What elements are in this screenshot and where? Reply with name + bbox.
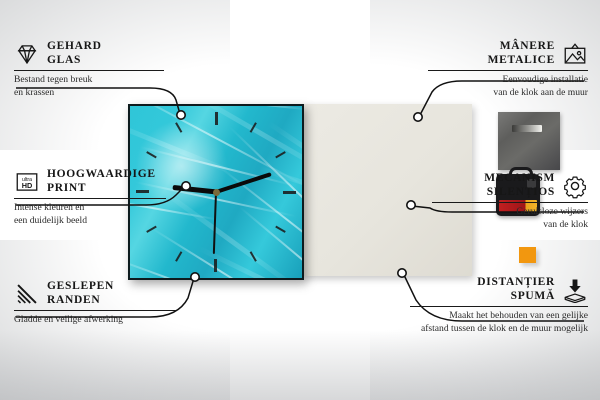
picture-frame-icon [562,41,588,67]
feature-sub-line2: en krassen [14,87,164,100]
anchor-print [182,182,190,190]
svg-text:HD: HD [22,181,33,190]
feature-title-line2: METALICE [488,54,555,68]
feature-sub-line1: Eenvoudige installatie [428,74,588,87]
feature-title-line1: DISTANȚIER [477,276,555,290]
feature-sub-line2: van de klok aan de muur [428,87,588,100]
feature-rule [428,70,588,71]
feature-title-line1: GESLEPEN [47,280,114,294]
gear-icon [562,173,588,199]
feature-rule [14,198,166,199]
spacer-down-arrow-icon [562,277,588,303]
anchor-gehard-glas [177,111,185,119]
feature-rule [14,310,176,311]
feature-title-line1: MECANISM [484,172,555,186]
feature-sub-line1: Geruisloze wijzers [432,206,588,219]
anchor-mecanism [407,201,415,209]
feature-sub-line2: een duidelijk beeld [14,215,166,228]
bevelled-edge-icon [14,281,40,307]
feature-sub-line1: Bestand tegen breuk [14,74,164,87]
feature-sub-line1: Maakt het behouden van een gelijke [410,310,588,323]
feature-sub-line2: van de klok [432,219,588,232]
feature-geslepen-randen: GESLEPEN RANDEN Gladde en veilige afwerk… [14,280,176,327]
feature-sub-line2: afstand tussen de klok en de muur mogeli… [410,323,588,336]
diamond-icon [14,41,40,67]
anchor-metal [414,113,422,121]
anchor-distantier [398,269,406,277]
feature-title-line2: GLAS [47,54,102,68]
feature-title-line1: HOOGWAARDIGE [47,168,156,182]
feature-distantier-spuma: DISTANȚIER SPUMĂ Maakt het behouden van … [410,276,588,335]
feature-rule [410,306,588,307]
feature-hoogwaardige-print: ultra HD HOOGWAARDIGE PRINT Intense kleu… [14,168,166,227]
feature-title-line1: MÂNERE [488,40,555,54]
feature-mecanism-silentios: MECANISM SILENȚIOS Geruisloze wijzers va… [432,172,588,231]
feature-gehard-glas: GEHARD GLAS Bestand tegen breuk en krass… [14,40,164,99]
feature-title-line1: GEHARD [47,40,102,54]
feature-title-line2: PRINT [47,182,156,196]
feature-sub-line1: Intense kleuren en [14,202,166,215]
feature-rule [14,70,164,71]
anchor-randen [191,273,199,281]
feature-title-line2: SILENȚIOS [484,186,555,200]
feature-manere-metalice: MÂNERE METALICE Eenvoudige installatie v… [428,40,588,99]
ultra-hd-icon: ultra HD [14,169,40,195]
feature-sub-line1: Gladde en veilige afwerking [14,314,176,327]
feature-title-line2: SPUMĂ [477,290,555,304]
feature-rule [432,202,588,203]
feature-title-line2: RANDEN [47,294,114,308]
infographic-canvas: GEHARD GLAS Bestand tegen breuk en krass… [0,0,600,400]
